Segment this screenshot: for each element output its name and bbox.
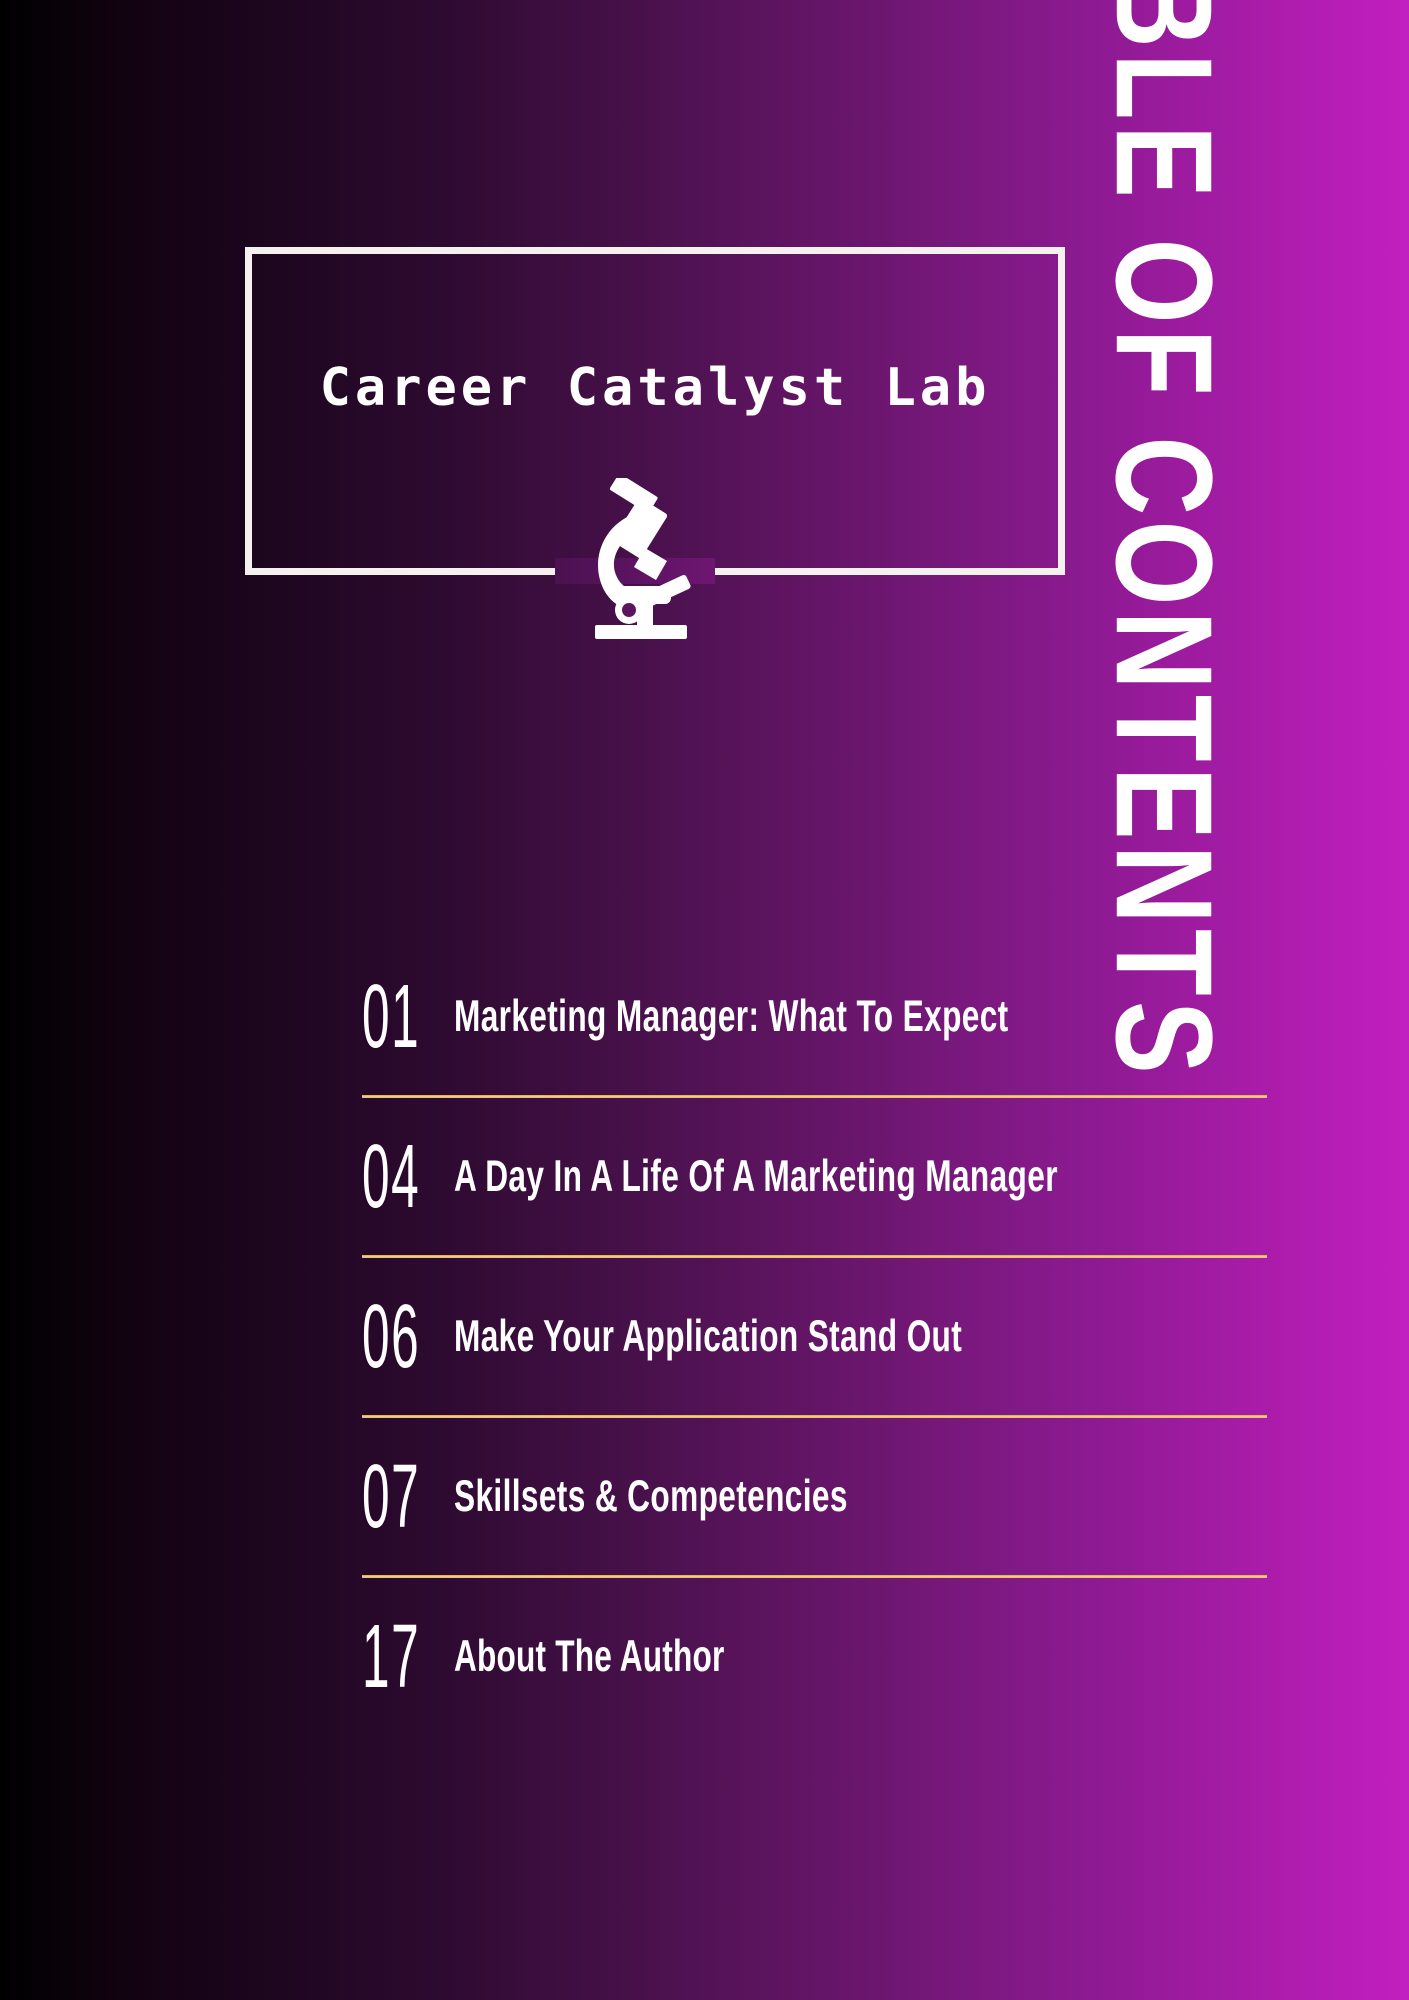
- toc-page: Career Catalyst Lab TABLE OF CONTENTS: [0, 0, 1409, 2000]
- toc-entry-number: 17: [362, 1613, 436, 1703]
- toc-entry-label: A Day In A Life Of A Marketing Manager: [454, 1155, 1210, 1201]
- vertical-heading-text: TABLE OF CONTENTS: [1094, 0, 1231, 1079]
- toc-list: 01 Marketing Manager: What To Expect 04 …: [362, 938, 1267, 1738]
- vertical-heading: TABLE OF CONTENTS: [1098, 140, 1228, 760]
- toc-entry-number: 07: [362, 1453, 436, 1543]
- toc-entry[interactable]: 07 Skillsets & Competencies: [362, 1418, 1267, 1578]
- toc-entry-number: 01: [362, 973, 436, 1063]
- toc-entry[interactable]: 17 About The Author: [362, 1578, 1267, 1738]
- toc-entry-label: Make Your Application Stand Out: [454, 1315, 1210, 1361]
- toc-entry-label: Marketing Manager: What To Expect: [454, 995, 1210, 1041]
- toc-entry-number: 06: [362, 1293, 436, 1383]
- toc-entry-label: About The Author: [454, 1635, 1210, 1681]
- toc-entry-label: Skillsets & Competencies: [454, 1475, 1210, 1521]
- toc-entry[interactable]: 01 Marketing Manager: What To Expect: [362, 938, 1267, 1098]
- toc-entry[interactable]: 04 A Day In A Life Of A Marketing Manage…: [362, 1098, 1267, 1258]
- toc-entry[interactable]: 06 Make Your Application Stand Out: [362, 1258, 1267, 1418]
- page-title: Career Catalyst Lab: [245, 358, 1065, 418]
- toc-entry-number: 04: [362, 1133, 436, 1223]
- microscope-icon: [585, 478, 695, 643]
